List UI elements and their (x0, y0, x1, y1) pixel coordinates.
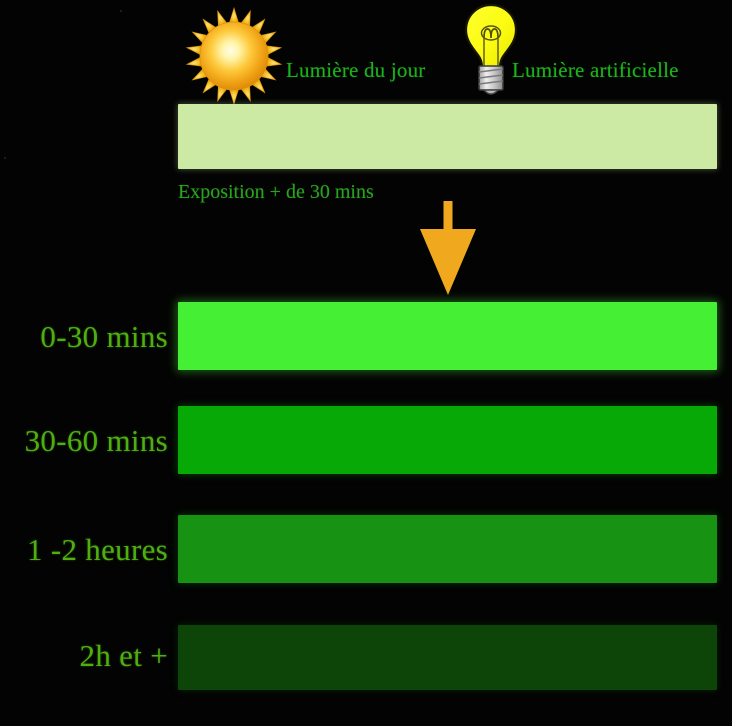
sun-icon (184, 6, 284, 106)
light-bulb-icon (457, 0, 525, 104)
exposure-caption: Exposition + de 30 mins (178, 181, 374, 204)
background-speck (120, 10, 122, 12)
bar-2h-et-plus (178, 625, 717, 690)
background-speck (4, 157, 6, 159)
exposure-bar (178, 104, 717, 169)
down-arrow-icon (414, 199, 482, 297)
bar-1-2-heures (178, 515, 717, 583)
bar-30-60-mins (178, 406, 717, 474)
bar-0-30-mins (178, 302, 717, 370)
legend-label-artificial: Lumière artificielle (512, 58, 679, 83)
row-label-1-2-heures: 1 -2 heures (0, 532, 168, 568)
row-label-30-60-mins: 30-60 mins (0, 423, 168, 459)
row-label-2h-et-plus: 2h et + (0, 638, 168, 674)
row-label-0-30-mins: 0-30 mins (0, 319, 168, 355)
legend-label-daylight: Lumière du jour (286, 58, 425, 83)
